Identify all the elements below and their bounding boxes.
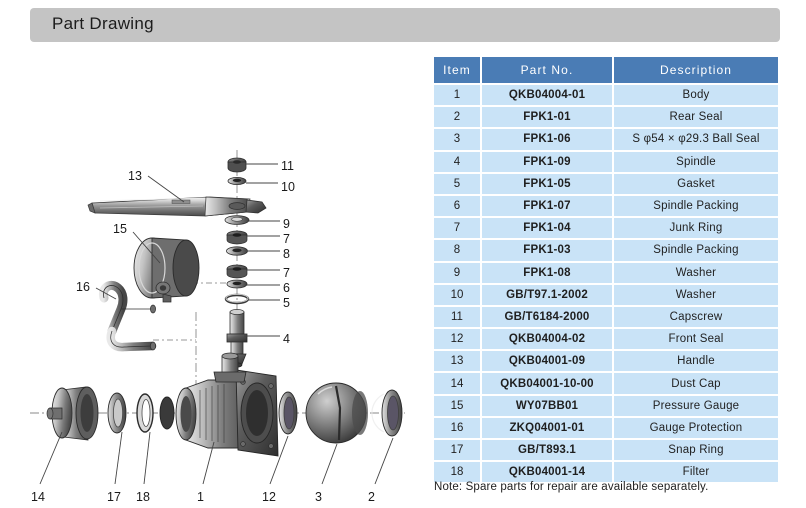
row-description: Gasket (614, 174, 778, 194)
table-row: 2FPK1-01Rear Seal (434, 107, 778, 127)
row-part-number: GB/T97.1-2002 (482, 285, 612, 305)
table-row: 17GB/T893.1Snap Ring (434, 440, 778, 460)
part-junk-ring-lower (227, 265, 247, 278)
row-description: Capscrew (614, 307, 778, 327)
column-header-description: Description (614, 57, 778, 83)
row-item-number: 16 (434, 418, 480, 438)
table-row: 5FPK1-05Gasket (434, 174, 778, 194)
part-snap-ring (108, 393, 126, 433)
table-row: 3FPK1-06S φ54 × φ29.3 Ball Seal (434, 129, 778, 149)
table-row: 1QKB04004-01Body (434, 85, 778, 105)
table-row: 10GB/T97.1-2002Washer (434, 285, 778, 305)
callout-12: 12 (262, 490, 276, 504)
parts-table-container: Item Part No. Description 1QKB04004-01Bo… (432, 55, 776, 484)
row-item-number: 4 (434, 152, 480, 172)
parts-table-body: 1QKB04004-01Body2FPK1-01Rear Seal3FPK1-0… (434, 85, 778, 482)
row-part-number: FPK1-06 (482, 129, 612, 149)
callout-11: 11 (281, 159, 294, 173)
callout-2: 2 (368, 490, 375, 504)
callout-10: 10 (281, 180, 295, 194)
row-description: Junk Ring (614, 218, 778, 238)
row-part-number: FPK1-04 (482, 218, 612, 238)
row-item-number: 12 (434, 329, 480, 349)
row-part-number: FPK1-08 (482, 263, 612, 283)
row-part-number: FPK1-05 (482, 174, 612, 194)
table-row: 15WY07BB01Pressure Gauge (434, 396, 778, 416)
callout-16: 16 (76, 280, 90, 294)
row-item-number: 15 (434, 396, 480, 416)
table-row: 12QKB04004-02Front Seal (434, 329, 778, 349)
row-item-number: 18 (434, 462, 480, 482)
row-part-number: QKB04001-10-00 (482, 373, 612, 393)
row-description: Handle (614, 351, 778, 371)
row-part-number: ZKQ04001-01 (482, 418, 612, 438)
row-description: S φ54 × φ29.3 Ball Seal (614, 129, 778, 149)
row-description: Front Seal (614, 329, 778, 349)
part-washer-10 (228, 177, 246, 184)
part-capscrew (228, 158, 246, 172)
row-description: Body (614, 85, 778, 105)
row-item-number: 6 (434, 196, 480, 216)
row-description: Spindle (614, 152, 778, 172)
row-part-number: GB/T6184-2000 (482, 307, 612, 327)
callout-4: 4 (283, 332, 290, 346)
row-description: Pressure Gauge (614, 396, 778, 416)
callout-17: 17 (107, 490, 121, 504)
table-row: 9FPK1-08Washer (434, 263, 778, 283)
callout-6: 6 (283, 281, 290, 295)
row-part-number: QKB04001-09 (482, 351, 612, 371)
row-item-number: 3 (434, 129, 480, 149)
row-item-number: 8 (434, 240, 480, 260)
row-item-number: 13 (434, 351, 480, 371)
table-row: 18QKB04001-14Filter (434, 462, 778, 482)
row-item-number: 1 (434, 85, 480, 105)
column-header-part-no: Part No. (482, 57, 612, 83)
callout-1: 1 (197, 490, 204, 504)
parts-table: Item Part No. Description 1QKB04004-01Bo… (432, 55, 780, 484)
page-title: Part Drawing (52, 14, 154, 34)
exploded-parts-diagram: 11 10 13 9 7 15 8 7 6 16 5 4 14 17 18 1 … (0, 50, 425, 508)
callout-7-lower: 7 (283, 266, 290, 280)
part-junk-ring-upper (227, 231, 247, 244)
part-body (176, 353, 278, 456)
row-description: Dust Cap (614, 373, 778, 393)
part-handle (88, 197, 266, 216)
row-description: Spindle Packing (614, 240, 778, 260)
table-row: 14QKB04001-10-00Dust Cap (434, 373, 778, 393)
row-item-number: 5 (434, 174, 480, 194)
table-row: 11GB/T6184-2000Capscrew (434, 307, 778, 327)
row-item-number: 11 (434, 307, 480, 327)
part-ball (306, 383, 368, 443)
part-front-seal (279, 392, 297, 434)
callout-13: 13 (128, 169, 142, 183)
callout-18: 18 (136, 490, 150, 504)
table-note: Note: Spare parts for repair are availab… (434, 481, 708, 493)
row-item-number: 7 (434, 218, 480, 238)
part-spindle-packing-6 (227, 280, 247, 288)
table-header-row: Item Part No. Description (434, 57, 778, 83)
row-item-number: 10 (434, 285, 480, 305)
row-part-number: FPK1-01 (482, 107, 612, 127)
table-row: 8FPK1-03Spindle Packing (434, 240, 778, 260)
row-item-number: 9 (434, 263, 480, 283)
part-washer-9 (225, 216, 249, 225)
table-row: 16ZKQ04001-01Gauge Protection (434, 418, 778, 438)
callout-14: 14 (31, 490, 45, 504)
row-part-number: FPK1-07 (482, 196, 612, 216)
row-description: Gauge Protection (614, 418, 778, 438)
row-part-number: QKB04001-14 (482, 462, 612, 482)
row-part-number: FPK1-03 (482, 240, 612, 260)
row-description: Washer (614, 263, 778, 283)
callout-15: 15 (113, 222, 127, 236)
row-description: Rear Seal (614, 107, 778, 127)
row-part-number: GB/T893.1 (482, 440, 612, 460)
part-spindle-packing-8 (227, 247, 248, 255)
table-row: 4FPK1-09Spindle (434, 152, 778, 172)
row-item-number: 17 (434, 440, 480, 460)
callout-3: 3 (315, 490, 322, 504)
part-dust-cap (47, 387, 98, 440)
row-item-number: 2 (434, 107, 480, 127)
row-part-number: FPK1-09 (482, 152, 612, 172)
row-description: Washer (614, 285, 778, 305)
callout-8: 8 (283, 247, 290, 261)
table-row: 13QKB04001-09Handle (434, 351, 778, 371)
row-part-number: QKB04004-01 (482, 85, 612, 105)
row-description: Spindle Packing (614, 196, 778, 216)
row-part-number: QKB04004-02 (482, 329, 612, 349)
part-pressure-gauge (134, 238, 199, 302)
callout-7-upper: 7 (283, 232, 290, 246)
row-description: Filter (614, 462, 778, 482)
row-item-number: 14 (434, 373, 480, 393)
callout-5: 5 (283, 296, 290, 310)
diagram-illustration (0, 50, 425, 508)
table-row: 7FPK1-04Junk Ring (434, 218, 778, 238)
page-header-bar: Part Drawing (30, 8, 780, 42)
callout-9: 9 (283, 217, 290, 231)
row-description: Snap Ring (614, 440, 778, 460)
table-row: 6FPK1-07Spindle Packing (434, 196, 778, 216)
column-header-item: Item (434, 57, 480, 83)
row-part-number: WY07BB01 (482, 396, 612, 416)
